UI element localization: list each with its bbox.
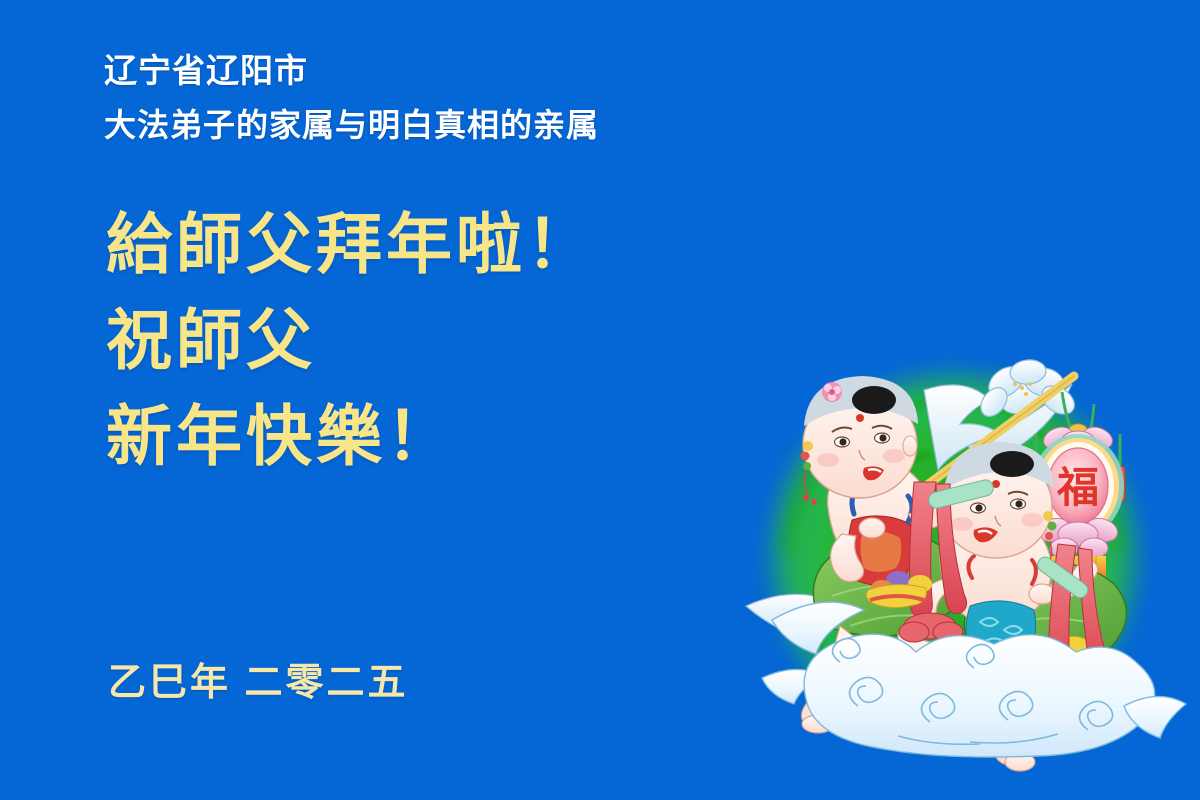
lunar-year-date: 乙巳年 二零二五: [108, 658, 409, 708]
greeting-line-1: 給師父拜年啦！: [106, 196, 596, 292]
greeting-text-block: 給師父拜年啦！ 祝師父 新年快樂！: [106, 196, 596, 484]
header-line-audience: 大法弟子的家属与明白真相的亲属: [104, 98, 599, 152]
illustration-two-children-fu-lantern: 福: [722, 338, 1200, 800]
fu-character-glyph: 福: [1056, 465, 1099, 512]
date-text-block: 乙巳年 二零二五: [108, 658, 409, 708]
new-year-greeting-card: 福: [0, 0, 1200, 800]
greeting-line-2: 祝師父: [106, 292, 596, 388]
greeting-line-3: 新年快樂！: [106, 388, 596, 484]
header-text-block: 辽宁省辽阳市 大法弟子的家属与明白真相的亲属: [104, 44, 599, 152]
hair-flower-ornament: [822, 382, 842, 402]
header-line-region: 辽宁省辽阳市: [104, 44, 599, 98]
